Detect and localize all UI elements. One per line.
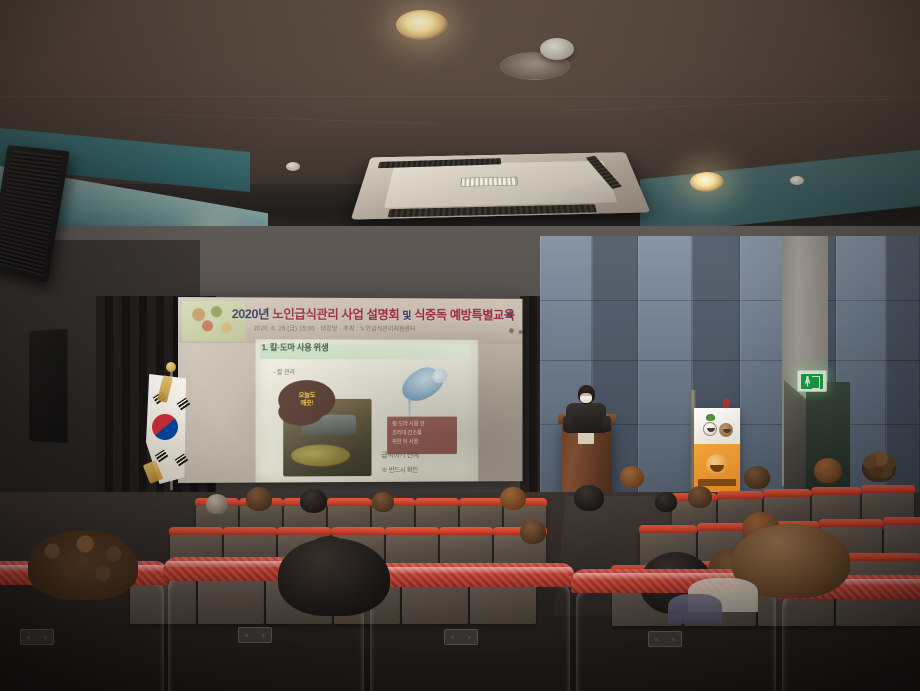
seat-rim bbox=[367, 567, 573, 574]
seat-headrest bbox=[331, 527, 385, 535]
audience-head bbox=[744, 466, 770, 489]
audience-head bbox=[500, 487, 526, 510]
rollup-banner-top bbox=[694, 408, 740, 444]
audience-head-foreground bbox=[28, 530, 138, 600]
presentation-slide: 1. 칼·도마 사용 위생 - 칼 관리 오늘도깨끗! 칼·도마 사용 전 조리… bbox=[256, 339, 479, 482]
banner-subtitle: 2020. 6. 26.(금) 15:00 · 대강당 · 주최 : 노인급식관… bbox=[254, 323, 523, 333]
rollup-banner bbox=[694, 408, 740, 494]
audience-head bbox=[655, 492, 677, 512]
wall-seam bbox=[540, 300, 920, 301]
seat-headrest bbox=[763, 489, 811, 497]
seat-headrest bbox=[223, 527, 277, 535]
audience-head bbox=[688, 486, 712, 508]
slide-callout-line: 위한 뒤 사용 bbox=[392, 438, 452, 447]
seat-number-plate bbox=[648, 631, 682, 647]
projector-screen: 2020년 노인급식관리 사업 설명회 및 식중독 예방특별교육 2020. 6… bbox=[178, 297, 522, 483]
seat-headrest bbox=[439, 527, 493, 535]
seat-headrest bbox=[385, 527, 439, 535]
banner-title-main: 노인급식관리 사업 설명회 bbox=[272, 307, 399, 321]
slide-thought-text: 오늘도깨끗! bbox=[298, 392, 315, 408]
audience-head bbox=[246, 487, 272, 511]
slide-footer-line1: 급식하기 전에 bbox=[381, 450, 418, 460]
seat-number-plate bbox=[20, 629, 54, 645]
foreground-seat[interactable] bbox=[782, 591, 920, 691]
smoke-detector-icon bbox=[540, 38, 574, 60]
seat-headrest bbox=[717, 491, 763, 499]
smiley-icon bbox=[706, 454, 728, 476]
audience-head bbox=[206, 494, 228, 514]
audience-shoulder bbox=[668, 594, 722, 624]
slide-callout-line: 칼·도마 사용 전 bbox=[392, 421, 452, 430]
audience-head bbox=[620, 466, 644, 488]
ceiling-downlight bbox=[396, 10, 448, 40]
audience-head bbox=[520, 520, 546, 544]
seat-headrest bbox=[327, 498, 371, 506]
slide-bullet: - 칼 관리 bbox=[273, 367, 295, 376]
seat-headrest bbox=[277, 527, 331, 535]
audience-head bbox=[814, 458, 842, 483]
wall-seam bbox=[540, 360, 920, 361]
audience-head bbox=[862, 452, 896, 482]
seat-number-plate bbox=[444, 629, 478, 645]
seat-headrest bbox=[883, 517, 920, 525]
audience-head bbox=[372, 492, 394, 512]
presenter-body bbox=[566, 403, 606, 433]
vegetable-character-icon bbox=[703, 422, 717, 436]
seat-headrest bbox=[811, 487, 861, 495]
slide-illustration-shape bbox=[397, 362, 448, 407]
seat-headrest bbox=[365, 563, 575, 587]
flag-finial bbox=[166, 362, 176, 372]
banner-title-year: 2020년 bbox=[232, 307, 269, 321]
exit-pictogram bbox=[801, 374, 823, 389]
banner-dot bbox=[509, 328, 514, 333]
slide-illustration bbox=[393, 363, 449, 408]
slide-callout-box: 칼·도마 사용 전 조리대 건조를 위한 뒤 사용 bbox=[387, 417, 457, 455]
seat-headrest bbox=[459, 498, 503, 506]
slide-heading: 1. 칼·도마 사용 위생 bbox=[261, 341, 328, 353]
foreground-seat[interactable] bbox=[370, 579, 570, 691]
emergency-exit-icon bbox=[797, 370, 827, 392]
presenter-arm bbox=[602, 416, 611, 432]
sprinkler-icon bbox=[286, 162, 300, 171]
presenter-arm bbox=[563, 416, 572, 432]
ac-center-grille bbox=[461, 176, 518, 186]
seat-headrest bbox=[169, 527, 223, 535]
banner-title-conj: 및 bbox=[402, 311, 411, 322]
banner-dot bbox=[507, 311, 514, 318]
sprinkler-icon bbox=[790, 176, 804, 185]
ceiling-downlight bbox=[690, 172, 724, 192]
banner-title-tail: 식중독 예방특별교육 bbox=[414, 308, 514, 322]
seat-number-plate bbox=[238, 627, 272, 643]
slide-thought-bubble: 오늘도깨끗! bbox=[281, 383, 332, 417]
wall-speaker-secondary bbox=[29, 329, 67, 443]
event-banner: 2020년 노인급식관리 사업 설명회 및 식중독 예방특별교육 2020. 6… bbox=[178, 297, 522, 344]
slide-callout-line: 조리대 건조를 bbox=[392, 429, 452, 438]
vegetable-leaf-icon bbox=[706, 414, 715, 421]
ceiling-air-conditioner bbox=[351, 152, 651, 220]
auditorium-photo: 2020년 노인급식관리 사업 설명회 및 식중독 예방특별교육 2020. 6… bbox=[0, 0, 920, 691]
audience-head bbox=[300, 489, 327, 513]
seat-headrest bbox=[415, 498, 459, 506]
vegetable-character-icon bbox=[719, 423, 733, 437]
ceiling-seam bbox=[0, 96, 920, 97]
banner-dot bbox=[519, 330, 523, 334]
banner-title: 2020년 노인급식관리 사업 설명회 및 식중독 예방특별교육 bbox=[232, 303, 517, 323]
podium-plate bbox=[578, 432, 594, 444]
seat-headrest bbox=[819, 519, 883, 527]
slide-footer-line2: ※ 반드시 확인 bbox=[381, 464, 418, 474]
seat-headrest bbox=[861, 485, 915, 493]
slide-photo-pan bbox=[301, 415, 356, 435]
audience-head-foreground bbox=[278, 538, 390, 616]
rollup-banner-bar bbox=[698, 479, 736, 486]
audience-head bbox=[574, 485, 604, 511]
wall-panel-strip bbox=[638, 236, 692, 496]
seat-headrest bbox=[639, 525, 697, 533]
